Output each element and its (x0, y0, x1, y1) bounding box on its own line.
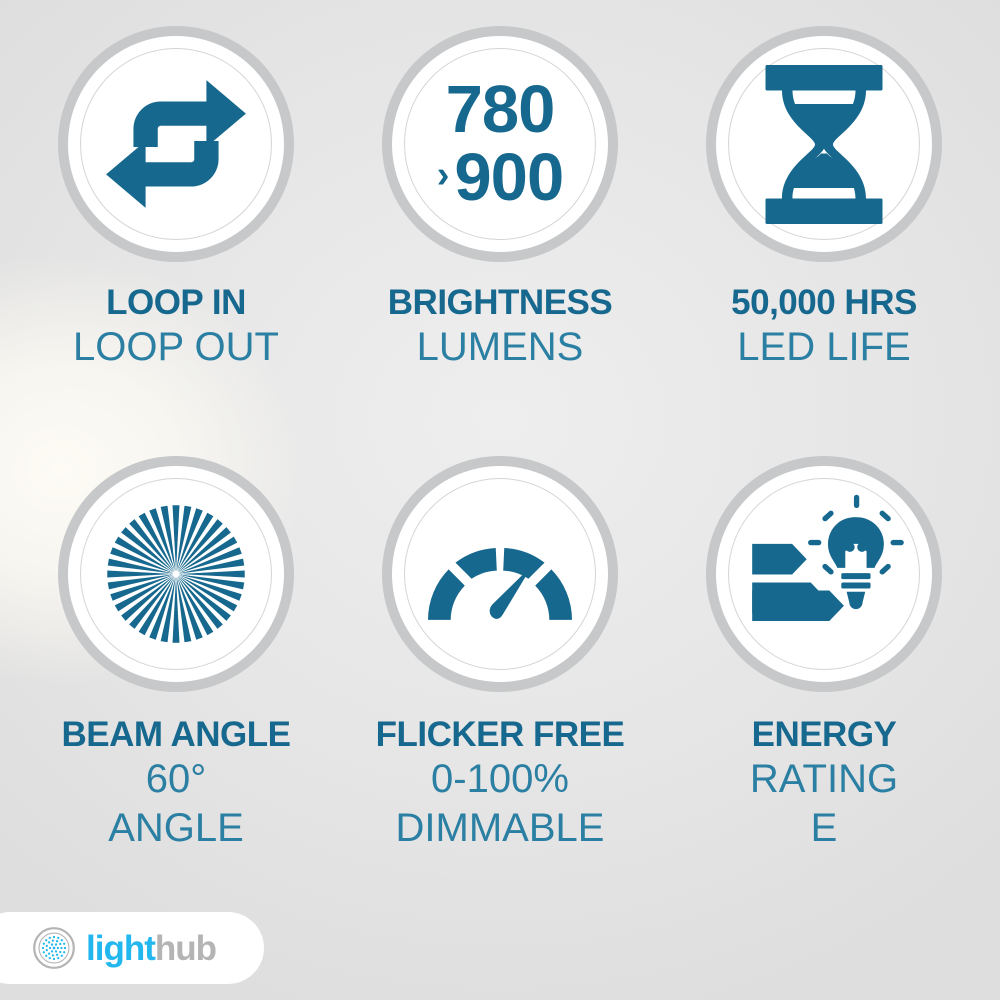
feature-sub-2: DIMMABLE (376, 806, 625, 851)
feature-cell-energy-rating: ENERGY RATING E (662, 456, 986, 916)
lumens-to: 900 (454, 147, 563, 209)
feature-sub-2: ANGLE (62, 806, 291, 851)
feature-title: LOOP IN (73, 284, 279, 321)
caption-led-life: 50,000 HRS LED LIFE (731, 284, 917, 370)
brand-logo[interactable]: lighthub (0, 912, 264, 984)
feature-cell-beam-angle: BEAM ANGLE 60° ANGLE (14, 456, 338, 916)
feature-grid: LOOP IN LOOP OUT 780 › 900 BRIGHTNESS LU… (0, 0, 1000, 1000)
gauge-icon (415, 489, 585, 659)
feature-sub: LUMENS (388, 325, 612, 370)
feature-cell-led-life: 50,000 HRS LED LIFE (662, 26, 986, 456)
badge-energy-rating (706, 456, 942, 692)
feature-title: BEAM ANGLE (62, 716, 291, 753)
caption-beam-angle: BEAM ANGLE 60° ANGLE (62, 716, 291, 851)
feature-title: FLICKER FREE (376, 716, 625, 753)
feature-sub: LED LIFE (731, 325, 917, 370)
caption-energy-rating: ENERGY RATING E (750, 716, 898, 851)
badge-beam-angle (58, 456, 294, 692)
feature-sub: RATING (750, 757, 898, 802)
lumens-value-icon: 780 › 900 (437, 79, 563, 208)
lumens-from: 780 (437, 79, 563, 141)
feature-title: ENERGY (750, 716, 898, 753)
feature-title: 50,000 HRS (731, 284, 917, 321)
feature-sub: LOOP OUT (73, 325, 279, 370)
logo-word-hub: hub (155, 929, 216, 968)
feature-title: BRIGHTNESS (388, 284, 612, 321)
sunburst-icon (91, 489, 261, 659)
badge-flicker-free (382, 456, 618, 692)
loop-arrows-icon (91, 59, 261, 229)
feature-sub: 60° (62, 757, 291, 802)
dotted-circle-icon (32, 926, 76, 970)
energy-rating-icon (739, 489, 909, 659)
feature-cell-loop: LOOP IN LOOP OUT (14, 26, 338, 456)
caption-brightness: BRIGHTNESS LUMENS (388, 284, 612, 370)
feature-cell-brightness: 780 › 900 BRIGHTNESS LUMENS (338, 26, 662, 456)
feature-sub-2: E (750, 806, 898, 851)
hourglass-icon (739, 59, 909, 229)
logo-word-light: light (86, 929, 155, 968)
caption-loop: LOOP IN LOOP OUT (73, 284, 279, 370)
chevron-right-icon: › (437, 158, 449, 193)
badge-loop (58, 26, 294, 262)
caption-flicker-free: FLICKER FREE 0-100% DIMMABLE (376, 716, 625, 851)
badge-brightness: 780 › 900 (382, 26, 618, 262)
badge-led-life (706, 26, 942, 262)
feature-cell-flicker-free: FLICKER FREE 0-100% DIMMABLE (338, 456, 662, 916)
feature-sub: 0-100% (376, 757, 625, 802)
